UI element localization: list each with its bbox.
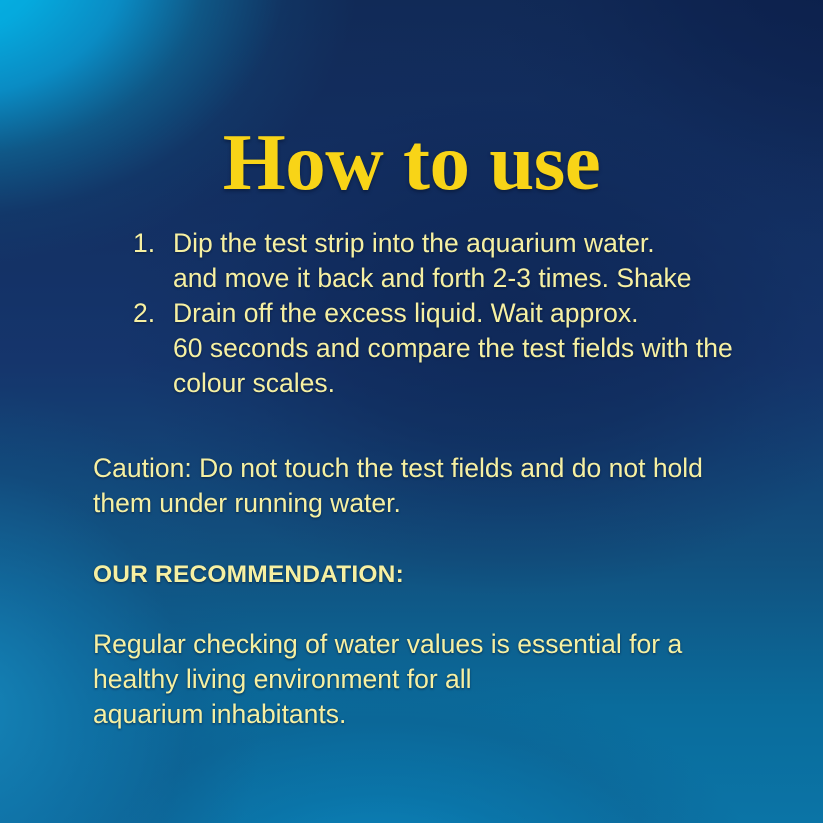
list-item: 2. Drain off the excess liquid. Wait app… bbox=[133, 296, 823, 401]
page-title: How to use bbox=[0, 122, 823, 203]
recommendation-line: healthy living environment for all bbox=[93, 664, 472, 694]
caution-note: Caution: Do not touch the test fields an… bbox=[93, 451, 793, 521]
step-line: Dip the test strip into the aquarium wat… bbox=[173, 228, 655, 258]
recommendation-line: aquarium inhabitants. bbox=[93, 699, 346, 729]
caution-line: Caution: Do not touch the test fields an… bbox=[93, 453, 703, 483]
recommendation-heading: OUR RECOMMENDATION: bbox=[93, 559, 404, 591]
instruction-list: 1. Dip the test strip into the aquarium … bbox=[93, 226, 823, 401]
how-to-use-panel: How to use 1. Dip the test strip into th… bbox=[0, 0, 823, 823]
panel-content: How to use 1. Dip the test strip into th… bbox=[0, 0, 823, 823]
step-text: Drain off the excess liquid. Wait approx… bbox=[173, 296, 823, 401]
step-line: 60 seconds and compare the test fields w… bbox=[173, 333, 733, 363]
caution-line: them under running water. bbox=[93, 488, 401, 518]
step-number: 2. bbox=[133, 296, 173, 331]
step-text: Dip the test strip into the aquarium wat… bbox=[173, 226, 823, 296]
step-line: colour scales. bbox=[173, 368, 335, 398]
recommendation-line: Regular checking of water values is esse… bbox=[93, 629, 682, 659]
recommendation-text: Regular checking of water values is esse… bbox=[93, 627, 793, 732]
step-line: Drain off the excess liquid. Wait approx… bbox=[173, 298, 638, 328]
step-number: 1. bbox=[133, 226, 173, 261]
list-item: 1. Dip the test strip into the aquarium … bbox=[133, 226, 823, 296]
step-line: and move it back and forth 2-3 times. Sh… bbox=[173, 263, 692, 293]
